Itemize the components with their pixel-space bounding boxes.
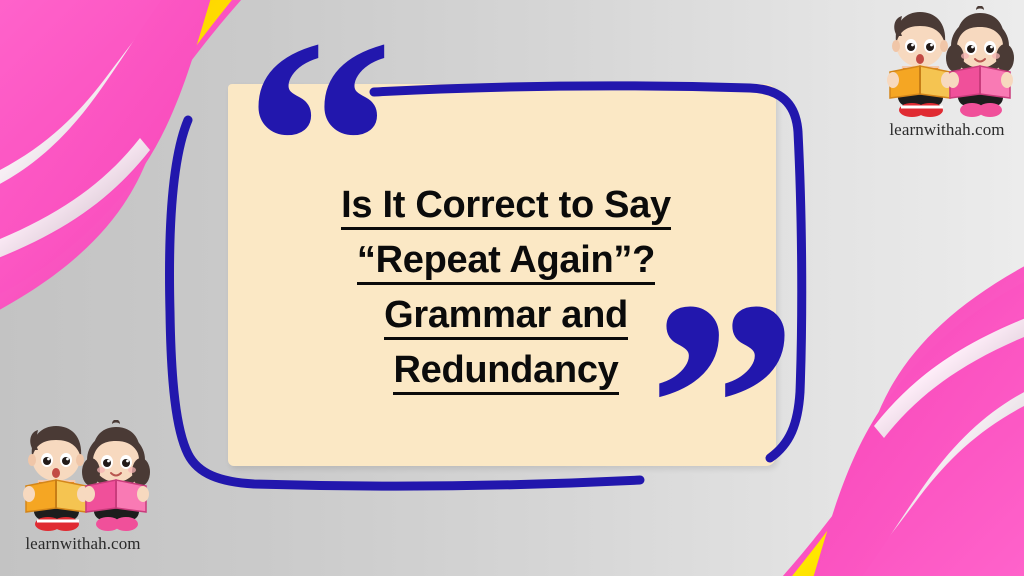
poster-canvas: “ ” Is It Correct to Say “Repeat Again”?… (0, 0, 1024, 576)
title-line-1: Is It Correct to Say (248, 178, 764, 233)
brand-logo-bottom-left: learnwithah.com (8, 420, 158, 570)
kids-reading-icon (8, 420, 158, 538)
ribbon-top-left (0, 0, 250, 316)
title-line-2: “Repeat Again”? (248, 233, 764, 288)
title-line-4-text: Redundancy (393, 349, 618, 395)
title-line-2-text: “Repeat Again”? (357, 239, 655, 285)
title-line-3: Grammar and (248, 288, 764, 343)
brand-text: learnwithah.com (8, 534, 158, 554)
poster-title: Is It Correct to Say “Repeat Again”? Gra… (248, 178, 764, 398)
brand-text: learnwithah.com (872, 120, 1022, 140)
title-line-4: Redundancy (248, 343, 764, 398)
brand-logo-top-right: learnwithah.com (872, 6, 1022, 156)
ribbon-bottom-right (774, 260, 1024, 576)
kids-reading-icon (872, 6, 1022, 124)
title-line-1-text: Is It Correct to Say (341, 184, 671, 230)
title-line-3-text: Grammar and (384, 294, 628, 340)
